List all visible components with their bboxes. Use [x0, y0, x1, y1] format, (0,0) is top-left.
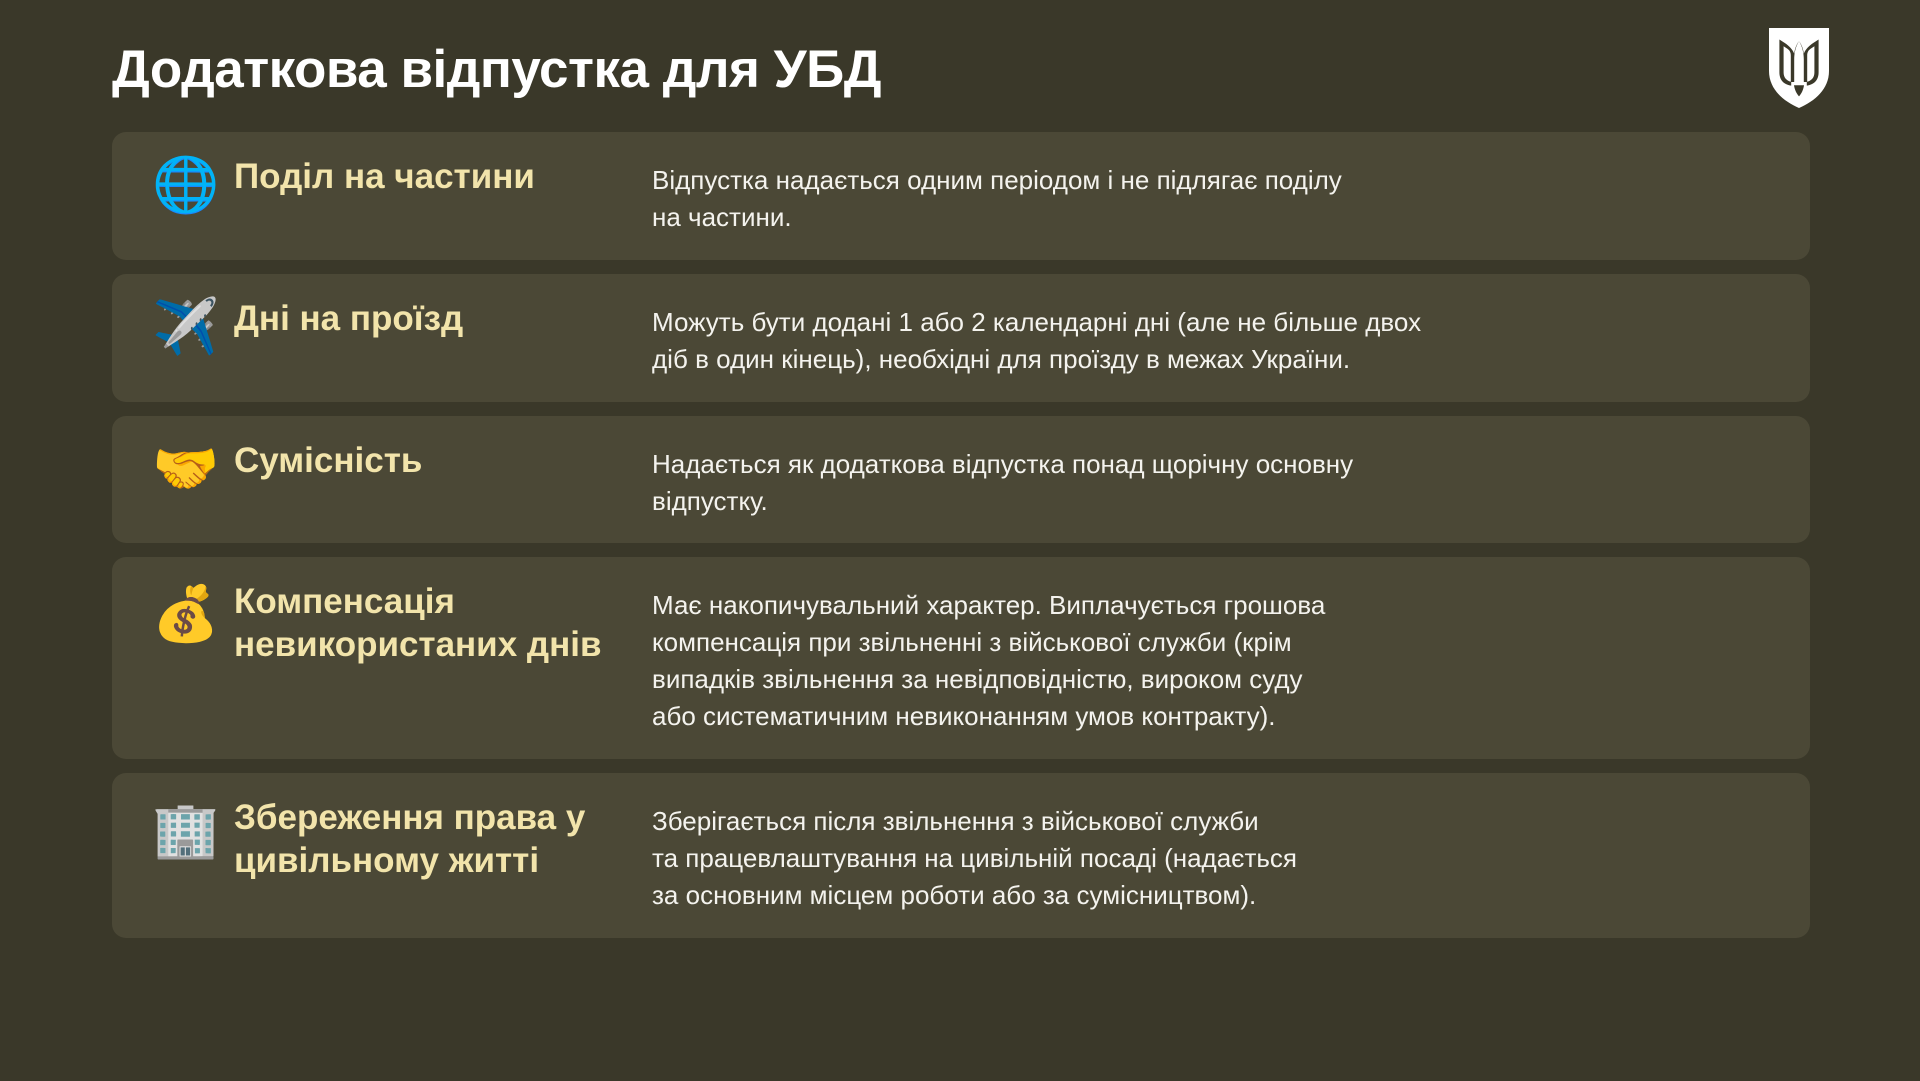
page-title: Додаткова відпустка для УБД [112, 42, 881, 98]
list-item: ✈️ Дні на проїзд Можуть бути додані 1 аб… [112, 274, 1810, 402]
list-item-title: Дні на проїзд [234, 296, 652, 341]
feature-rows-list: 🌐 Поділ на частини Відпустка надається о… [0, 132, 1920, 938]
list-item-title: Збереження права у цивільному житті [234, 795, 652, 882]
list-item: 💰 Компенсація невикористаних днів Має на… [112, 557, 1810, 759]
list-item: 🏢 Збереження права у цивільному житті Зб… [112, 773, 1810, 938]
office-building-icon: 🏢 [138, 795, 234, 857]
handshake-icon: 🤝 [138, 438, 234, 496]
list-item-description: Можуть бути додані 1 або 2 календарні дн… [652, 296, 1784, 378]
infographic-page: Додаткова відпустка для УБД 🌐 Поділ на ч… [0, 0, 1920, 1081]
list-item-description: Зберігається після звільнення з військов… [652, 795, 1784, 914]
list-item: 🤝 Сумісність Надається як додаткова відп… [112, 416, 1810, 544]
airplane-icon: ✈️ [138, 296, 234, 354]
list-item-description: Має накопичувальний характер. Виплачуєть… [652, 579, 1784, 735]
list-item-title: Поділ на частини [234, 154, 652, 199]
page-header: Додаткова відпустка для УБД [0, 0, 1920, 132]
money-bag-icon: 💰 [138, 579, 234, 641]
list-item: 🌐 Поділ на частини Відпустка надається о… [112, 132, 1810, 260]
ukrainian-armed-forces-trident-shield-icon [1768, 27, 1830, 109]
globe-icon: 🌐 [138, 154, 234, 212]
list-item-title: Компенсація невикористаних днів [234, 579, 652, 666]
list-item-description: Відпустка надається одним періодом і не … [652, 154, 1784, 236]
list-item-title: Сумісність [234, 438, 652, 483]
list-item-description: Надається як додаткова відпустка понад щ… [652, 438, 1784, 520]
